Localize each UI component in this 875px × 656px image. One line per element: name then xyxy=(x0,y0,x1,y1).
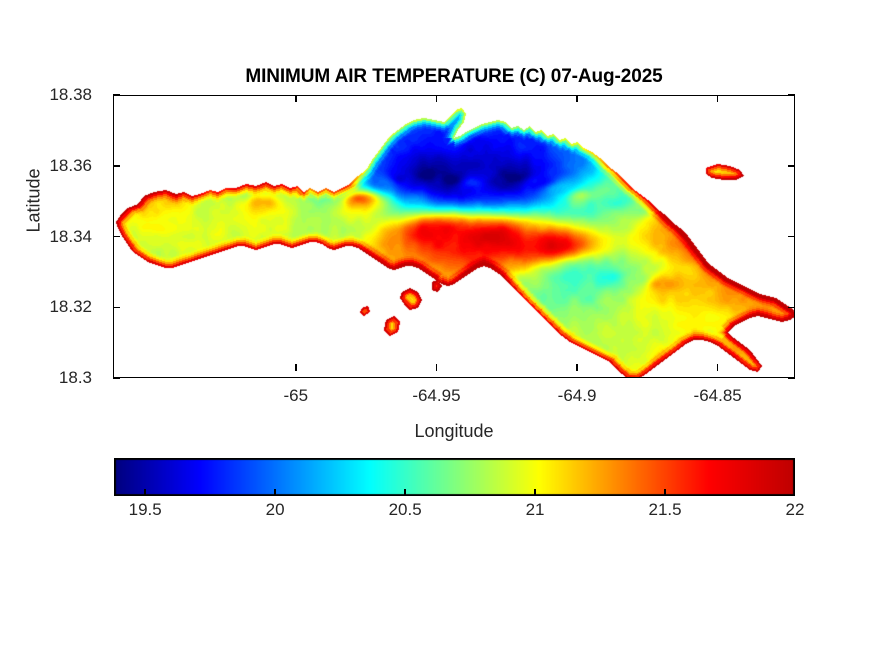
colorbar-gradient xyxy=(114,458,795,496)
x-tick-mark xyxy=(436,95,438,102)
colorbar-tick-mark xyxy=(534,489,536,496)
y-tick-label: 18.36 xyxy=(49,156,92,176)
y-tick-mark xyxy=(788,94,795,96)
x-tick-mark xyxy=(576,95,578,102)
y-tick-mark xyxy=(788,165,795,167)
page-title: MINIMUM AIR TEMPERATURE (C) 07-Aug-2025 xyxy=(113,66,795,88)
x-tick-label: -64.85 xyxy=(694,386,742,406)
colorbar-tick-mark xyxy=(664,489,666,496)
x-tick-mark xyxy=(436,364,438,371)
y-tick-label: 18.32 xyxy=(49,297,92,317)
colorbar-tick-label: 22 xyxy=(786,500,805,520)
colorbar-tick-label: 21.5 xyxy=(648,500,681,520)
y-tick-mark xyxy=(113,236,120,238)
colorbar-tick-mark xyxy=(404,489,406,496)
colorbar-tick-mark xyxy=(144,489,146,496)
temperature-heatmap xyxy=(114,96,795,378)
colorbar-tick-label: 19.5 xyxy=(129,500,162,520)
x-axis-label: Longitude xyxy=(113,421,795,442)
figure-canvas: MINIMUM AIR TEMPERATURE (C) 07-Aug-2025 … xyxy=(0,0,875,656)
x-tick-label: -64.95 xyxy=(412,386,460,406)
y-tick-mark xyxy=(788,377,795,379)
x-tick-label: -64.9 xyxy=(558,386,597,406)
colorbar-tick-label: 20 xyxy=(266,500,285,520)
colorbar xyxy=(114,458,795,496)
y-tick-mark xyxy=(788,307,795,309)
y-tick-mark xyxy=(788,236,795,238)
y-axis-label: Latitude xyxy=(24,151,45,251)
x-tick-mark xyxy=(295,95,297,102)
map-axes xyxy=(113,95,795,378)
y-tick-mark xyxy=(113,94,120,96)
y-tick-label: 18.34 xyxy=(49,227,92,247)
x-tick-mark xyxy=(576,364,578,371)
colorbar-tick-mark xyxy=(274,489,276,496)
y-tick-mark xyxy=(113,307,120,309)
colorbar-tick-label: 21 xyxy=(526,500,545,520)
colorbar-tick-label: 20.5 xyxy=(389,500,422,520)
x-tick-mark xyxy=(717,364,719,371)
y-tick-mark xyxy=(113,377,120,379)
x-tick-mark xyxy=(295,364,297,371)
x-tick-mark xyxy=(717,95,719,102)
y-tick-label: 18.38 xyxy=(49,85,92,105)
y-tick-label: 18.3 xyxy=(59,368,92,388)
x-tick-label: -65 xyxy=(284,386,309,406)
y-tick-mark xyxy=(113,165,120,167)
